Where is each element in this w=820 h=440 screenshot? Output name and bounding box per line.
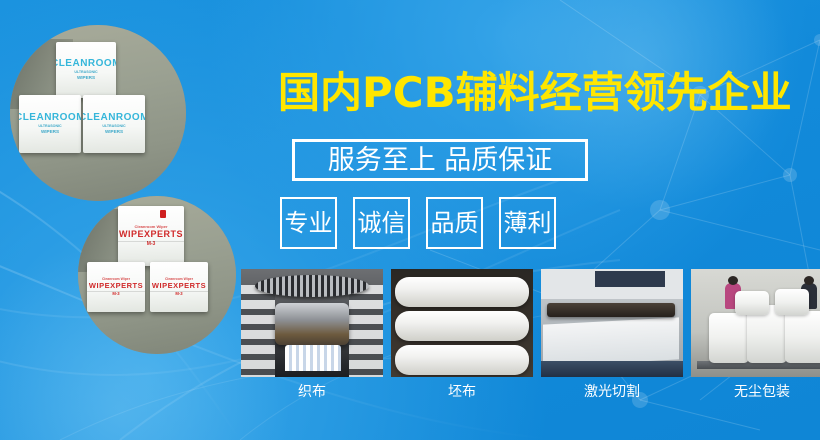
pack-line2: WIPERS [77,76,95,81]
process-step: 无尘包装 [691,269,820,399]
value-tag-professional: 专业 [280,197,337,249]
pack-line2: WIPERS [41,130,59,135]
cleanroom-wipes-circle: CLEANROOM ULTRASONIC WIPERS CLEANROOM UL… [10,25,186,201]
knitting-machine-photo [241,269,383,377]
fabric-roll [395,311,529,341]
wall-panel [595,271,665,287]
fabric-roll [395,277,529,307]
product-pack: Cleanroom Wiper WIPEXPERTS M-3 [118,206,184,266]
pack-brand: WIPEXPERTS [119,230,183,239]
value-tag-integrity: 诚信 [353,197,410,249]
packed-bag [775,289,809,315]
pack-brand: WIPEXPERTS [152,282,206,290]
process-step: 织布 [241,269,383,399]
yarn-spools-left [241,285,275,377]
process-step: 坯布 [391,269,533,399]
value-tag-low-margin: 薄利 [499,197,556,249]
pack-line2: WIPERS [105,130,123,135]
cutting-bed [543,317,679,366]
value-tag-quality: 品质 [426,197,483,249]
yarn-spools-right [349,285,383,377]
subtitle-box: 服务至上 品质保证 [292,139,588,181]
product-pack: Cleanroom Wiper WIPEXPERTS M-3 [150,262,208,312]
process-caption: 无尘包装 [691,385,820,399]
packed-bag [785,311,820,363]
headline: 国内PCB辅料经营领先企业 [278,72,792,114]
subtitle-text: 服务至上 品质保证 [328,147,553,174]
process-caption: 坯布 [391,385,533,399]
machine-drum [275,303,349,345]
machine-crown [255,275,369,297]
laser-cutting-photo [541,269,683,377]
process-caption: 激光切割 [541,385,683,399]
knitted-fabric [285,345,341,371]
pack-brand: CLEANROOM [83,113,145,123]
fabric-roll [395,345,529,375]
process-step: 激光切割 [541,269,683,399]
process-thumbnail-strip: 织布 坯布 激光切割 [241,269,820,399]
fabric-rolls-photo [391,269,533,377]
process-caption: 织布 [241,385,383,399]
pack-line2: M-3 [175,292,182,296]
pack-line2: M-3 [112,292,119,296]
value-tag-list: 专业 诚信 品质 薄利 [280,197,556,249]
red-stamp-icon [160,210,166,218]
packed-bag [735,291,769,315]
product-pack: CLEANROOM ULTRASONIC WIPERS [56,42,116,98]
wipexperts-circle: Cleanroom Wiper WIPEXPERTS M-3 Cleanroom… [78,196,236,354]
laser-gantry [547,303,675,317]
product-pack: CLEANROOM ULTRASONIC WIPERS [83,95,145,153]
product-pack: Cleanroom Wiper WIPEXPERTS M-3 [87,262,145,312]
packed-bag [709,313,749,363]
promo-banner: CLEANROOM ULTRASONIC WIPERS CLEANROOM UL… [0,0,820,440]
machine-base [541,361,683,377]
pack-brand: CLEANROOM [19,113,81,123]
pack-line2: M-3 [147,242,156,247]
pack-brand: WIPEXPERTS [89,282,143,290]
product-pack: CLEANROOM ULTRASONIC WIPERS [19,95,81,153]
cleanroom-packing-photo [691,269,820,377]
pack-brand: CLEANROOM [56,59,116,69]
